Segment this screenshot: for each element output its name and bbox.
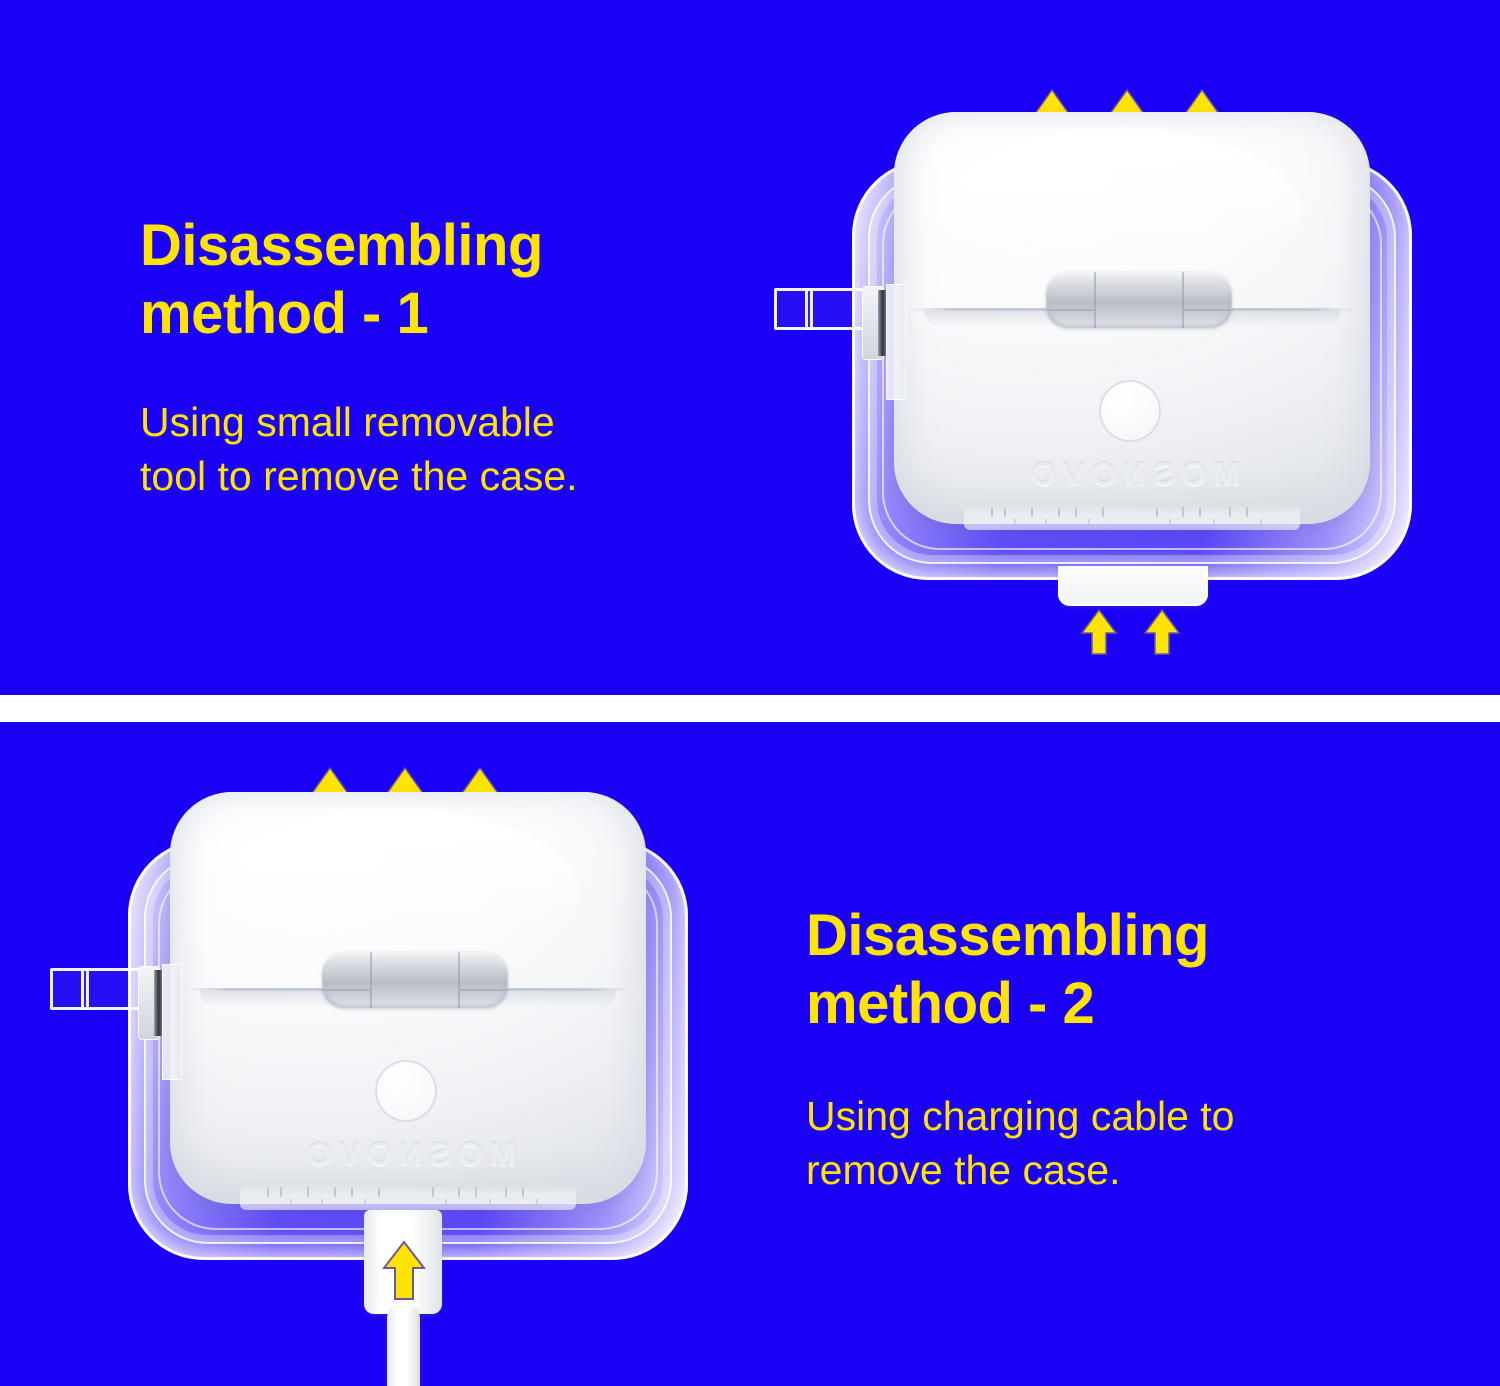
removal-tool-clip <box>50 960 180 1080</box>
hinge-cut-right <box>1184 309 1232 311</box>
airpods-case-with-clear-cover: MOSNOVO <box>128 840 688 1260</box>
charging-port-cutout <box>1058 566 1208 606</box>
hinge-bar <box>322 952 508 1008</box>
arrow-up-icon <box>1143 608 1181 656</box>
hinge-segment-right <box>1182 272 1184 328</box>
arrow-up-icon <box>1080 608 1118 656</box>
pairing-button <box>375 1060 437 1122</box>
clip-stem <box>162 964 182 1080</box>
panel-method-1: Disassembling method - 1 Using small rem… <box>0 0 1500 695</box>
pairing-button <box>1099 380 1161 442</box>
brand-logo-mosnovo: MOSNOVO <box>170 1136 646 1173</box>
brand-logo-mosnovo: MOSNOVO <box>894 456 1370 493</box>
removal-tool-clip <box>774 280 904 400</box>
arrow-up-icon <box>382 1240 426 1307</box>
airpods-case-with-clear-cover: MOSNOVO <box>852 160 1412 580</box>
method-1-subtext: Using small removable tool to remove the… <box>140 395 780 503</box>
airpods-case-body: MOSNOVO <box>170 792 646 1204</box>
product-instruction-graphic: Disassembling method - 1 Using small rem… <box>0 0 1500 1386</box>
clip-stem <box>886 284 906 400</box>
hinge-cut-left <box>1046 309 1094 311</box>
panel-divider <box>0 695 1500 722</box>
method-2-headline: Disassembling method - 2 <box>806 902 1446 1039</box>
hinge-segment-left <box>370 952 372 1008</box>
charging-cable <box>338 1210 488 1386</box>
cable-wire <box>387 1306 420 1386</box>
method-2-text-block: Disassembling method - 2 Using charging … <box>806 902 1446 1197</box>
hinge-segment-left <box>1094 272 1096 328</box>
method-2-subtext: Using charging cable to remove the case. <box>806 1089 1446 1197</box>
panel-method-2: Disassembling method - 2 Using charging … <box>0 722 1500 1386</box>
airpods-case-body: MOSNOVO <box>894 112 1370 524</box>
hinge-segment-right <box>458 952 460 1008</box>
hinge-bar <box>1046 272 1232 328</box>
method-1-text-block: Disassembling method - 1 Using small rem… <box>140 212 780 503</box>
bottom-grille <box>240 1184 576 1210</box>
hinge-cut-left <box>322 989 370 991</box>
bottom-grille <box>964 504 1300 530</box>
hinge-cut-right <box>460 989 508 991</box>
method-1-headline: Disassembling method - 1 <box>140 212 780 349</box>
